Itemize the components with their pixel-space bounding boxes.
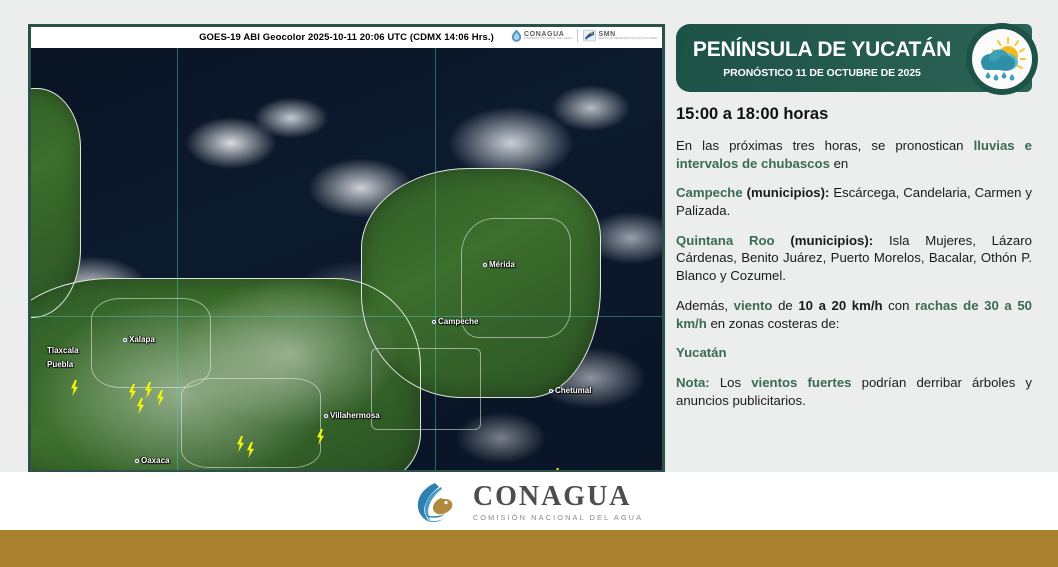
conagua-footer-logo: CONAGUA COMISIÓN NACIONAL DEL AGUA: [415, 481, 643, 525]
conagua-footer-wordmark: CONAGUA COMISIÓN NACIONAL DEL AGUA: [473, 483, 643, 521]
conagua-droplet-icon: [511, 29, 522, 42]
quintana-roo-paragraph: Quintana Roo (municipios): Isla Mujeres,…: [676, 232, 1032, 285]
campeche-state-name: Campeche: [676, 185, 743, 200]
smn-header-logo: SMN SERVICIO METEOROLÓGICO NACIONAL: [583, 29, 658, 42]
quintana-roo-state-name: Quintana Roo: [676, 233, 775, 248]
forecast-banner: PENÍNSULA DE YUCATÁN PRONÓSTICO 11 DE OC…: [676, 24, 1032, 92]
wind-prefix-text: Además,: [676, 298, 734, 313]
note-paragraph: Nota: Los vientos fuertes podrían derrib…: [676, 374, 1032, 409]
conagua-header-wordmark: CONAGUA COMISIÓN NACIONAL DEL AGUA: [524, 31, 572, 41]
forecast-intro-paragraph: En las próximas tres horas, se pronostic…: [676, 137, 1032, 172]
footer-gold-bar: [0, 530, 1058, 567]
header-logo-divider: [577, 29, 578, 42]
map-header-logos: CONAGUA COMISIÓN NACIONAL DEL AGUA SMN S…: [511, 29, 658, 42]
goes19-satellite-image: Mérida Campeche Chetumal Xalapa Tlaxcala…: [31, 48, 662, 470]
wind-speed-value: 10 a 20 km/h: [798, 298, 882, 313]
wind-suffix-text: en zonas costeras de:: [707, 316, 840, 331]
smn-header-wordmark: SMN SERVICIO METEOROLÓGICO NACIONAL: [598, 31, 658, 41]
conagua-eagle-water-icon: [415, 481, 463, 525]
note-highlight-text: vientos fuertes: [751, 375, 851, 390]
forecast-date-subtitle: PRONÓSTICO 11 DE OCTUBRE DE 2025: [723, 67, 921, 79]
weather-condition-badge: [966, 23, 1038, 95]
campeche-paragraph: Campeche (municipios): Escárcega, Candel…: [676, 184, 1032, 219]
note-label: Nota:: [676, 375, 710, 390]
conagua-footer-name: CONAGUA: [473, 483, 643, 511]
weather-badge-inner: [972, 29, 1032, 89]
satellite-map-title: GOES-19 ABI Geocolor 2025-10-11 20:06 UT…: [199, 32, 494, 43]
wind-paragraph: Además, viento de 10 a 20 km/h con racha…: [676, 297, 1032, 332]
region-title: PENÍNSULA DE YUCATÁN: [693, 38, 951, 62]
satellite-map-panel: GOES-19 ABI Geocolor 2025-10-11 20:06 UT…: [28, 24, 665, 473]
smn-header-sub: SERVICIO METEOROLÓGICO NACIONAL: [598, 38, 658, 41]
forecast-panel: PENÍNSULA DE YUCATÁN PRONÓSTICO 11 DE OC…: [676, 24, 1032, 409]
intro-suffix-text: en: [830, 156, 848, 171]
landmass-yucatan-peninsula: [361, 168, 601, 398]
wind-mid-text: de: [772, 298, 798, 313]
conagua-header-sub: COMISIÓN NACIONAL DEL AGUA: [524, 38, 572, 41]
lightning-marker: [551, 468, 562, 470]
smn-emblem-icon: [583, 29, 596, 42]
conagua-footer-tagline: COMISIÓN NACIONAL DEL AGUA: [473, 514, 643, 521]
quintana-roo-municipios-label: (municipios):: [775, 233, 889, 248]
wind-keyword: viento: [734, 298, 773, 313]
city-name: Chetumal: [555, 386, 591, 395]
coastal-state-name: Yucatán: [676, 345, 727, 360]
sun-behind-rain-cloud-icon: [972, 29, 1032, 89]
intro-prefix-text: En las próximas tres horas, se pronostic…: [676, 138, 974, 153]
coastal-state-paragraph: Yucatán: [676, 344, 1032, 362]
campeche-municipios-label: (municipios):: [743, 185, 834, 200]
wind-connector-text: con: [883, 298, 915, 313]
note-prefix-text: Los: [710, 375, 752, 390]
satellite-map-header: GOES-19 ABI Geocolor 2025-10-11 20:06 UT…: [31, 27, 662, 48]
forecast-time-range: 15:00 a 18:00 horas: [676, 105, 1032, 124]
weather-forecast-infographic: GOES-19 ABI Geocolor 2025-10-11 20:06 UT…: [0, 0, 1058, 567]
conagua-header-logo: CONAGUA COMISIÓN NACIONAL DEL AGUA: [511, 29, 572, 42]
footer-logo-bar: CONAGUA COMISIÓN NACIONAL DEL AGUA: [0, 475, 1058, 530]
